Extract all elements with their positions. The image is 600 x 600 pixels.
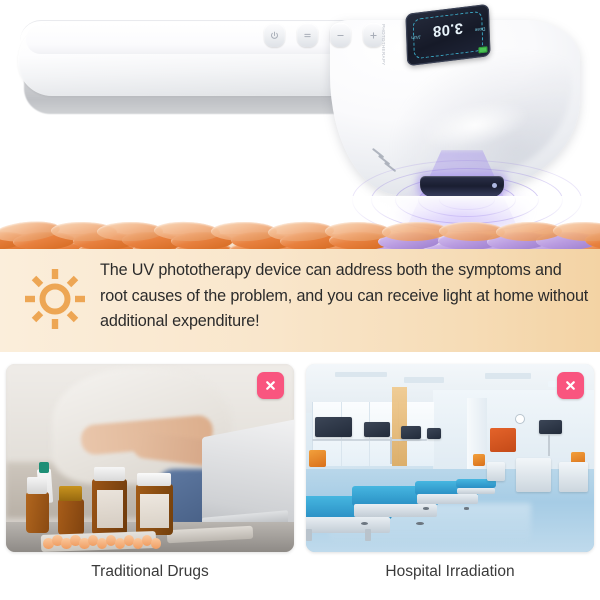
battery-icon bbox=[478, 46, 487, 53]
photo-bottle-cap bbox=[137, 473, 172, 486]
photo-bed-wheel bbox=[416, 522, 424, 525]
card-hospital-irradiation[interactable]: Hospital Irradiation bbox=[306, 364, 594, 581]
skin-top-fade bbox=[0, 196, 600, 222]
photo-storage-bin bbox=[309, 450, 326, 467]
sun-icon bbox=[22, 266, 88, 332]
comparison-cards: Traditional Drugs bbox=[0, 358, 600, 600]
photo-medicine-bottle bbox=[58, 499, 84, 535]
x-mark-badge bbox=[257, 372, 284, 399]
photo-bed-wheel bbox=[423, 507, 429, 510]
emitter-indicator-dot bbox=[492, 183, 497, 188]
photo-ceiling-tile bbox=[335, 372, 387, 378]
photo-column bbox=[467, 398, 487, 481]
thumbnail-traditional-drugs[interactable] bbox=[6, 364, 294, 552]
photo-equipment-rail bbox=[312, 439, 427, 441]
photo-monitor bbox=[427, 428, 441, 439]
photo-bottle-cap bbox=[59, 486, 82, 501]
card-caption: Hospital Irradiation bbox=[306, 563, 594, 581]
photo-hospital-bed bbox=[456, 479, 496, 498]
photo-monitor-stand bbox=[390, 437, 392, 463]
photo-medical-cart bbox=[516, 458, 551, 492]
photo-hospital-ward bbox=[306, 364, 594, 552]
photo-bottle-label bbox=[140, 494, 169, 528]
photo-wall-clock bbox=[516, 415, 524, 423]
photo-ceiling-tile bbox=[404, 377, 444, 383]
banner-text: The UV phototherapy device can address b… bbox=[100, 258, 590, 335]
photo-wall-panel bbox=[490, 428, 516, 452]
photo-storage-bin bbox=[473, 454, 485, 465]
card-caption: Traditional Drugs bbox=[6, 563, 294, 581]
photo-ceiling-tile bbox=[485, 373, 531, 379]
photo-monitor bbox=[401, 426, 421, 439]
photo-bottle-label bbox=[97, 490, 123, 528]
x-mark-badge bbox=[557, 372, 584, 399]
marketing-image: PHOTOTHERAPY 3.08 J/cm Dose bbox=[0, 0, 600, 600]
photo-medicine-bottle bbox=[26, 492, 49, 533]
photo-monitor bbox=[315, 417, 352, 438]
thumbnail-hospital-irradiation[interactable] bbox=[306, 364, 594, 552]
photo-monitor bbox=[539, 420, 562, 433]
card-traditional-drugs[interactable]: Traditional Drugs bbox=[6, 364, 294, 581]
decrease-button[interactable] bbox=[330, 23, 351, 47]
photo-medical-cart bbox=[487, 462, 504, 481]
photo-bottle-cap bbox=[94, 467, 126, 480]
photo-dropper-cap bbox=[39, 462, 49, 473]
mode-button[interactable] bbox=[297, 23, 318, 47]
photo-medical-cart bbox=[559, 462, 588, 492]
photo-bed-wheel bbox=[464, 507, 470, 510]
photo-pill bbox=[151, 538, 161, 549]
photo-bed-leg bbox=[365, 529, 371, 541]
power-button[interactable] bbox=[264, 23, 285, 47]
photo-monitor-stand bbox=[548, 434, 550, 457]
photo-traditional-drugs bbox=[6, 364, 294, 552]
photo-monitor bbox=[364, 422, 390, 437]
photo-bottle-cap bbox=[27, 477, 47, 494]
brand-label: PHOTOTHERAPY bbox=[381, 24, 386, 66]
photo-bed-frame bbox=[457, 488, 496, 494]
photo-bed-leg bbox=[306, 529, 312, 541]
device-display: 3.08 J/cm Dose bbox=[405, 4, 490, 66]
skin-cross-section bbox=[0, 196, 600, 256]
